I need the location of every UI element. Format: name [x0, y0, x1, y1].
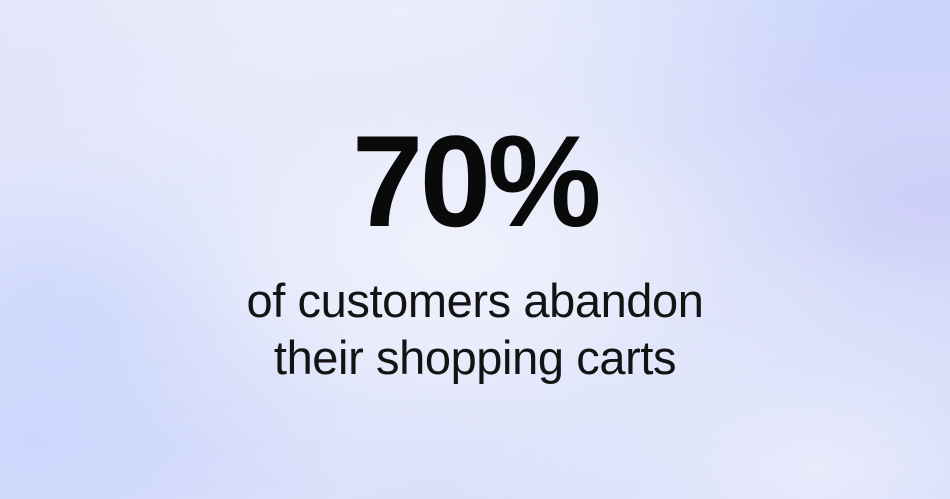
stat-figure-value: 70%	[7, 116, 943, 246]
stat-description: of customers abandon their shopping cart…	[0, 272, 950, 386]
stat-description-line-2: their shopping carts	[0, 329, 950, 386]
stat-card: 70% of customers abandon their shopping …	[0, 0, 950, 499]
stat-description-line-1: of customers abandon	[0, 272, 950, 329]
